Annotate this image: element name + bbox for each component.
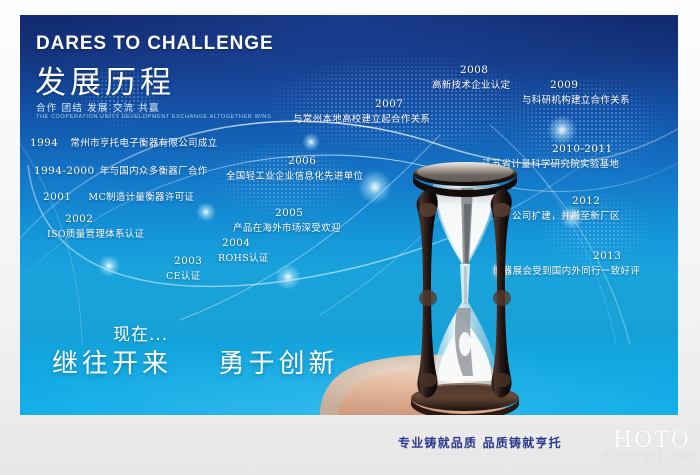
timeline-item-1994: 1994 常州市亨托电子衡器有限公司成立 <box>30 131 217 150</box>
timeline-label: 常州市亨托电子衡器有限公司成立 <box>70 138 217 149</box>
blue-panel: DARES TO CHALLENGE 发展历程 合作 团结 发展 交流 共赢 T… <box>20 15 678 415</box>
timeline-item-2012: 2012 公司扩建，并搬至新厂区 <box>572 195 620 222</box>
timeline-year: 2012 <box>572 195 620 207</box>
timeline-item-2013: 2013 衡器展会受到国内外同行一致好评 <box>593 250 640 277</box>
timeline-label: 全国轻工业企业信息化先进单位 <box>226 168 363 182</box>
timeline-item-2009: 2009 与科研机构建立合作关系 <box>550 79 630 106</box>
timeline-item-2001: 2001 MC制造计量衡器许可证 <box>43 185 194 204</box>
timeline-item-1994-2000: 1994-2000 年与国内众多衡器厂合作 <box>34 159 208 178</box>
timeline-year: 2002 <box>65 213 144 225</box>
timeline-year: 2005 <box>275 207 341 219</box>
timeline-item-2010-2011: 2010-2011 江苏省计量科学研究院实验基地 <box>552 143 619 170</box>
timeline-item-2008: 2008 高新技术企业认定 <box>460 64 510 91</box>
poster-headline: DARES TO CHALLENGE <box>36 33 274 55</box>
timeline-year: 2010-2011 <box>552 143 619 155</box>
timeline-year: 1994 <box>30 137 58 149</box>
glow-node <box>302 133 320 151</box>
poster-subtitle-cn: 合作 团结 发展 交流 共赢 <box>36 100 160 114</box>
timeline-item-2005: 2005 产品在海外市场深受欢迎 <box>275 207 341 234</box>
timeline-label: 高新技术企业认定 <box>432 77 510 91</box>
timeline-label: 年与国内众多衡器厂合作 <box>100 166 208 177</box>
timeline-year: 2008 <box>460 64 510 76</box>
timeline-year: 1994-2000 <box>34 165 95 177</box>
glow-node <box>275 264 301 290</box>
timeline-year: 2001 <box>43 191 71 203</box>
glow-node <box>547 115 577 145</box>
timeline-year: 2009 <box>550 79 630 91</box>
timeline-year: 2004 <box>222 237 269 249</box>
timeline-label: ISO质量管理体系认证 <box>47 226 144 240</box>
poster-canvas: DARES TO CHALLENGE 发展历程 合作 团结 发展 交流 共赢 T… <box>0 0 700 475</box>
glow-node <box>98 255 120 277</box>
glow-node <box>196 202 216 222</box>
timeline-year: 2003 <box>174 255 202 267</box>
slogan-right: 勇于创新 <box>219 349 339 379</box>
now-label: 现在... <box>113 320 168 345</box>
timeline-item-2004: 2004 ROHS认证 <box>222 237 269 264</box>
poster-subtitle-en: THE COOPERATION UNITY DEVELOPMENT EXCHAN… <box>36 114 271 120</box>
timeline-label: 公司扩建，并搬至新厂区 <box>512 208 620 222</box>
timeline-label: 产品在海外市场深受欢迎 <box>233 220 341 234</box>
timeline-year: 2007 <box>375 98 430 110</box>
watermark: 52dingzi.com <box>604 450 694 464</box>
timeline-item-2006: 2006 全国轻工业企业信息化先进单位 <box>288 155 363 182</box>
timeline-label: 与科研机构建立合作关系 <box>522 92 630 106</box>
timeline-label: CE认证 <box>166 268 202 282</box>
timeline-item-2007: 2007 与常州本地高校建立起合作关系 <box>375 98 430 125</box>
page-title: 发展历程 <box>35 57 175 102</box>
timeline-label: ROHS认证 <box>218 250 269 264</box>
timeline-item-2002: 2002 ISO质量管理体系认证 <box>65 213 144 240</box>
timeline-label: MC制造计量衡器许可证 <box>88 192 194 203</box>
hourglass-icon <box>405 148 525 415</box>
timeline-year: 2006 <box>288 155 363 167</box>
timeline-label: 与常州本地高校建立起合作关系 <box>293 111 430 125</box>
slogan-left: 继往开来 <box>52 349 172 379</box>
timeline-item-2003: 2003 CE认证 <box>174 255 202 282</box>
timeline-year: 2013 <box>593 250 640 262</box>
main-slogan: 继往开来 勇于创新 <box>52 343 339 380</box>
footer-slogan: 专业铸就品质 品质铸就亨托 <box>398 434 562 451</box>
